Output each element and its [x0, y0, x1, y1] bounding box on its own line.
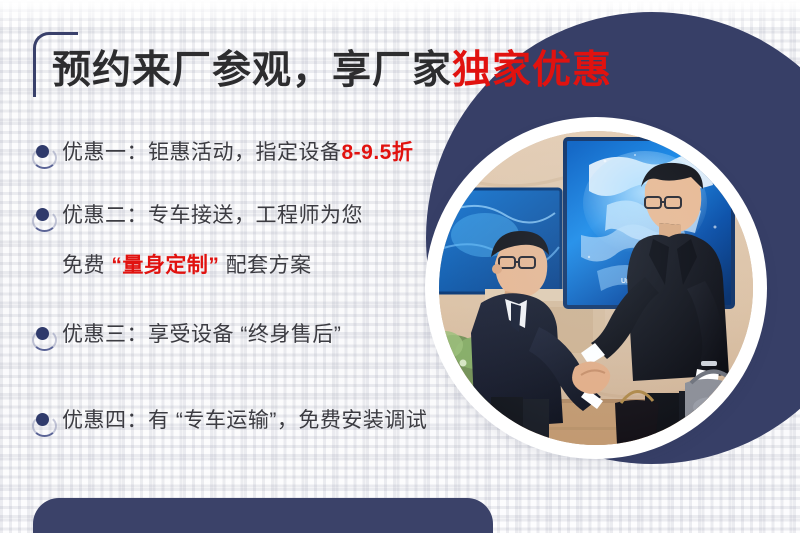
- list-item[interactable]: 优惠一：钜惠活动，指定设备8-9.5折: [30, 136, 413, 169]
- list-item-body: 专车接送，工程师为您: [148, 204, 363, 227]
- photo-circle-mask: United ited: [439, 131, 753, 445]
- list-item-text: 优惠二：专车接送，工程师为您: [62, 199, 363, 232]
- list-item-continuation: 免费 “量身定制” 配套方案: [62, 249, 312, 282]
- list-item-body: 钜惠活动，指定设备: [148, 141, 342, 164]
- list-item-label: 优惠三：: [62, 323, 148, 346]
- navy-dot-bullet-icon: [30, 141, 56, 167]
- page-title: 预约来厂参观，享厂家独家优惠: [52, 47, 612, 95]
- title-plain: 预约来厂参观，享厂家: [52, 49, 452, 92]
- list-item-label: 优惠四：: [62, 409, 148, 432]
- title-highlight: 独家优惠: [452, 49, 612, 92]
- list-item-label: 优惠二：: [62, 204, 148, 227]
- bottom-navy-bar: [33, 498, 493, 533]
- handshake-photo-illustration: United ited: [439, 131, 753, 445]
- list-item-label: 优惠一：: [62, 141, 148, 164]
- list-item-text: 优惠四：有 “专车运输”，免费安装调试: [62, 404, 427, 437]
- list-item[interactable]: 优惠四：有 “专车运输”，免费安装调试: [30, 404, 427, 437]
- list-item[interactable]: 优惠三：享受设备 “终身售后”: [30, 318, 341, 351]
- list-item-body: 有 “专车运输”，免费安装调试: [148, 409, 427, 432]
- list-item[interactable]: 优惠二：专车接送，工程师为您: [30, 199, 363, 232]
- list-item-text: 优惠一：钜惠活动，指定设备8-9.5折: [62, 136, 413, 169]
- navy-dot-bullet-icon: [30, 409, 56, 435]
- promo-poster: United ited: [0, 0, 800, 533]
- continuation-highlight: “量身定制”: [111, 254, 219, 277]
- list-item-body: 享受设备 “终身售后”: [148, 323, 341, 346]
- navy-dot-bullet-icon: [30, 323, 56, 349]
- navy-dot-bullet-icon: [30, 204, 56, 230]
- handshake-photo: United ited: [432, 124, 760, 452]
- continuation-after: 配套方案: [219, 254, 311, 277]
- list-item-highlight: 8-9.5折: [342, 141, 414, 164]
- continuation-before: 免费: [62, 254, 111, 277]
- list-item-text: 优惠三：享受设备 “终身售后”: [62, 318, 341, 351]
